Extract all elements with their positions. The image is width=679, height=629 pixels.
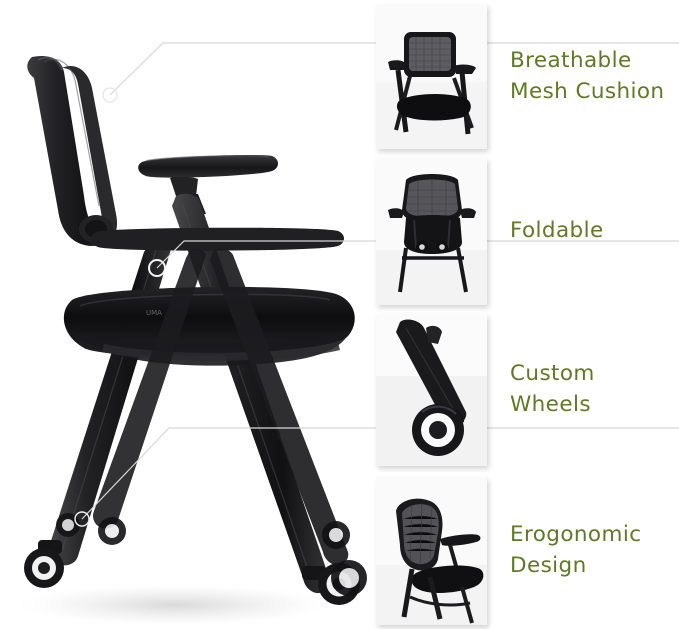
thumb-ergonomic-profile (376, 477, 487, 625)
thumb-folded-chair (376, 158, 487, 305)
caster-wheel-rear-right (98, 517, 126, 545)
feature-label-erogonomic-design: Erogonomic Design (487, 520, 679, 581)
feature-row-breathable-mesh-cushion: Breathable Mesh Cushion (376, 4, 679, 149)
caster-wheel-mid-left (56, 513, 80, 537)
thumb-mesh-back (376, 4, 487, 149)
hero-chair-illustration: UMA (0, 0, 372, 629)
feature-label-custom-wheels: Custom Wheels (487, 359, 679, 420)
feature-label-breathable-mesh-cushion: Breathable Mesh Cushion (487, 46, 679, 107)
feature-label-foldable: Foldable (487, 216, 679, 247)
caster-wheel-front-right (331, 560, 367, 596)
chair-seat-frame-bar (91, 228, 344, 251)
main-product-photo: UMA (0, 0, 372, 629)
caster-wheel-mid-right (322, 521, 350, 549)
infographic-root: UMA (0, 0, 679, 629)
feature-row-erogonomic-design: Erogonomic Design (376, 477, 679, 625)
svg-text:UMA: UMA (146, 309, 162, 317)
feature-row-foldable: Foldable (376, 158, 679, 305)
feature-row-custom-wheels: Custom Wheels (376, 314, 679, 466)
thumb-caster-wheel (376, 314, 487, 466)
